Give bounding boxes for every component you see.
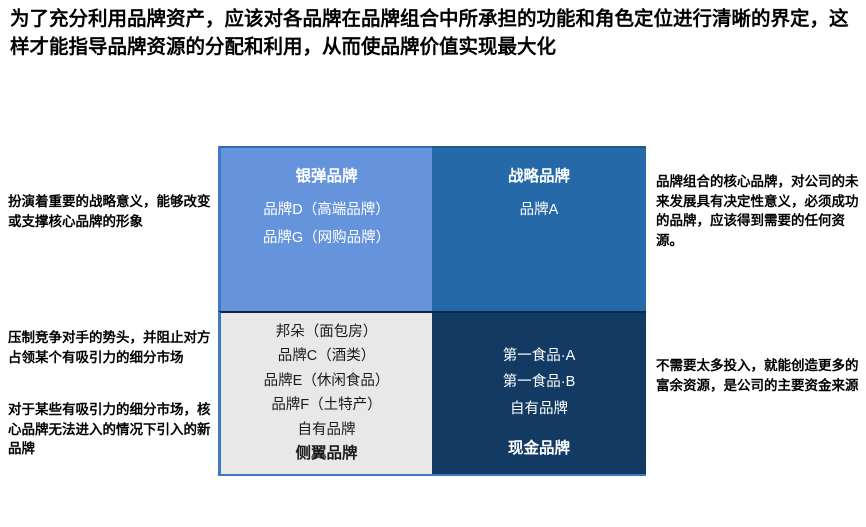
quadrant-silver-bullet-label: 银弹品牌 <box>295 168 357 187</box>
quadrant-silver-bullet[interactable]: 银弹品牌 品牌D（高端品牌） 品牌G（网购品牌） <box>218 146 432 311</box>
quadrant-flanker-item: 品牌F（土特产） <box>271 394 381 416</box>
annotation-strategic: 品牌组合的核心品牌，对公司的未来发展具有决定性意义，必须成功的品牌，应该得到需要… <box>656 172 862 250</box>
annotation-flanker-primary: 压制竞争对手的势头，并阻止对方占领某个有吸引力的细分市场 <box>8 328 212 367</box>
quadrant-strategic[interactable]: 战略品牌 品牌A <box>432 146 646 311</box>
page-title: 为了充分利用品牌资产，应该对各品牌在品牌组合中所承担的功能和角色定位进行清晰的界… <box>10 6 858 61</box>
quadrant-flanker-item: 品牌E（休闲食品） <box>264 370 390 392</box>
quadrant-flanker[interactable]: 邦朵（面包房） 品牌C（酒类） 品牌E（休闲食品） 品牌F（土特产） 自有品牌 … <box>218 311 432 476</box>
quadrant-cash-item: 第一食品·B <box>503 371 576 393</box>
quadrant-cash-label: 现金品牌 <box>508 440 570 459</box>
quadrant-cash-item: 第一食品·A <box>503 345 576 367</box>
quadrant-cash-item: 自有品牌 <box>510 398 568 420</box>
quadrant-silver-bullet-item: 品牌G（网购品牌） <box>263 227 390 249</box>
annotation-cash: 不需要太多投入，就能创造更多的富余资源，是公司的主要资金来源 <box>656 356 862 395</box>
quadrant-flanker-item: 品牌C（酒类） <box>278 345 375 367</box>
quadrant-strategic-item: 品牌A <box>520 199 559 221</box>
quadrant-flanker-label: 侧翼品牌 <box>295 445 357 464</box>
quadrant-silver-bullet-item: 品牌D（高端品牌） <box>263 199 389 221</box>
quadrant-cash[interactable]: 第一食品·A 第一食品·B 自有品牌 现金品牌 <box>432 311 646 476</box>
annotation-silver-bullet: 扮演着重要的战略意义，能够改变或支撑核心品牌的形象 <box>8 192 212 231</box>
annotation-flanker-secondary: 对于某些有吸引力的细分市场，核心品牌无法进入的情况下引入的新品牌 <box>8 400 212 459</box>
quadrant-flanker-item: 邦朵（面包房） <box>276 321 378 343</box>
quadrant-strategic-label: 战略品牌 <box>508 168 570 187</box>
brand-portfolio-matrix: 银弹品牌 品牌D（高端品牌） 品牌G（网购品牌） 战略品牌 品牌A 邦朵（面包房… <box>218 146 646 476</box>
quadrant-flanker-item: 自有品牌 <box>298 419 356 441</box>
